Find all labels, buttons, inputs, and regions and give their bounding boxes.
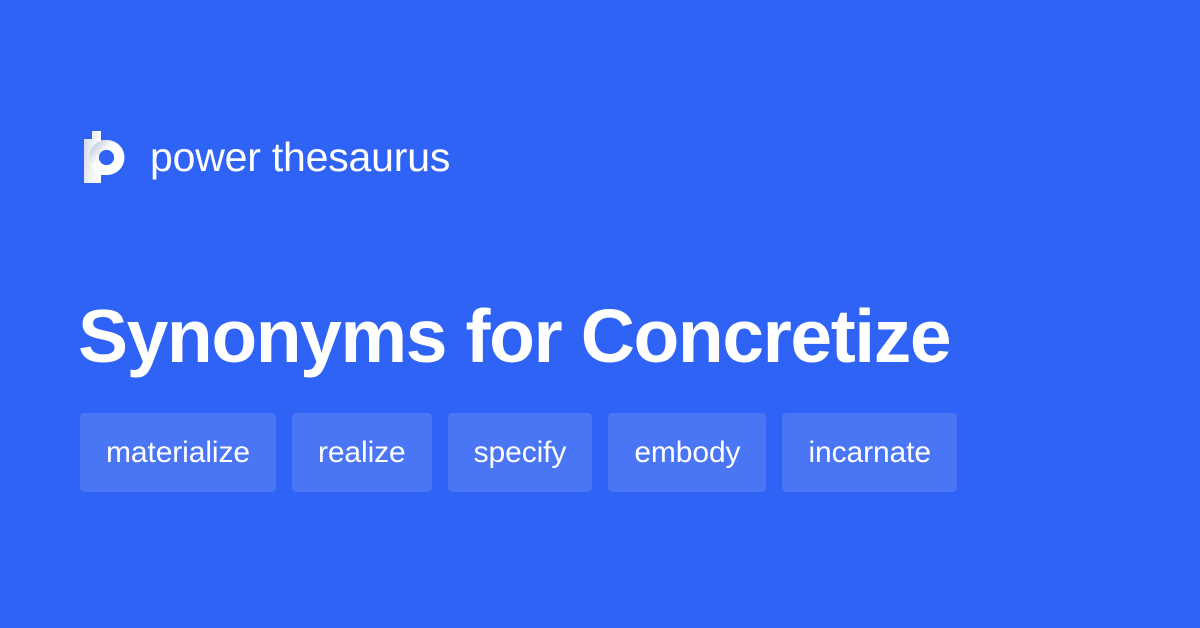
synonym-chip[interactable]: realize bbox=[292, 413, 432, 492]
page-title: Synonyms for Concretize bbox=[78, 297, 1138, 377]
synonym-chip[interactable]: specify bbox=[448, 413, 593, 492]
synonym-chip[interactable]: embody bbox=[608, 413, 766, 492]
synonym-chip-list: materialize realize specify embody incar… bbox=[80, 413, 1140, 492]
brand-name: power thesaurus bbox=[150, 137, 450, 178]
brand-header[interactable]: power thesaurus bbox=[80, 126, 450, 188]
synonym-chip[interactable]: materialize bbox=[80, 413, 276, 492]
power-thesaurus-b-logo-icon bbox=[80, 131, 128, 183]
social-share-card: power thesaurus Synonyms for Concretize … bbox=[0, 0, 1200, 628]
synonym-chip[interactable]: incarnate bbox=[782, 413, 957, 492]
